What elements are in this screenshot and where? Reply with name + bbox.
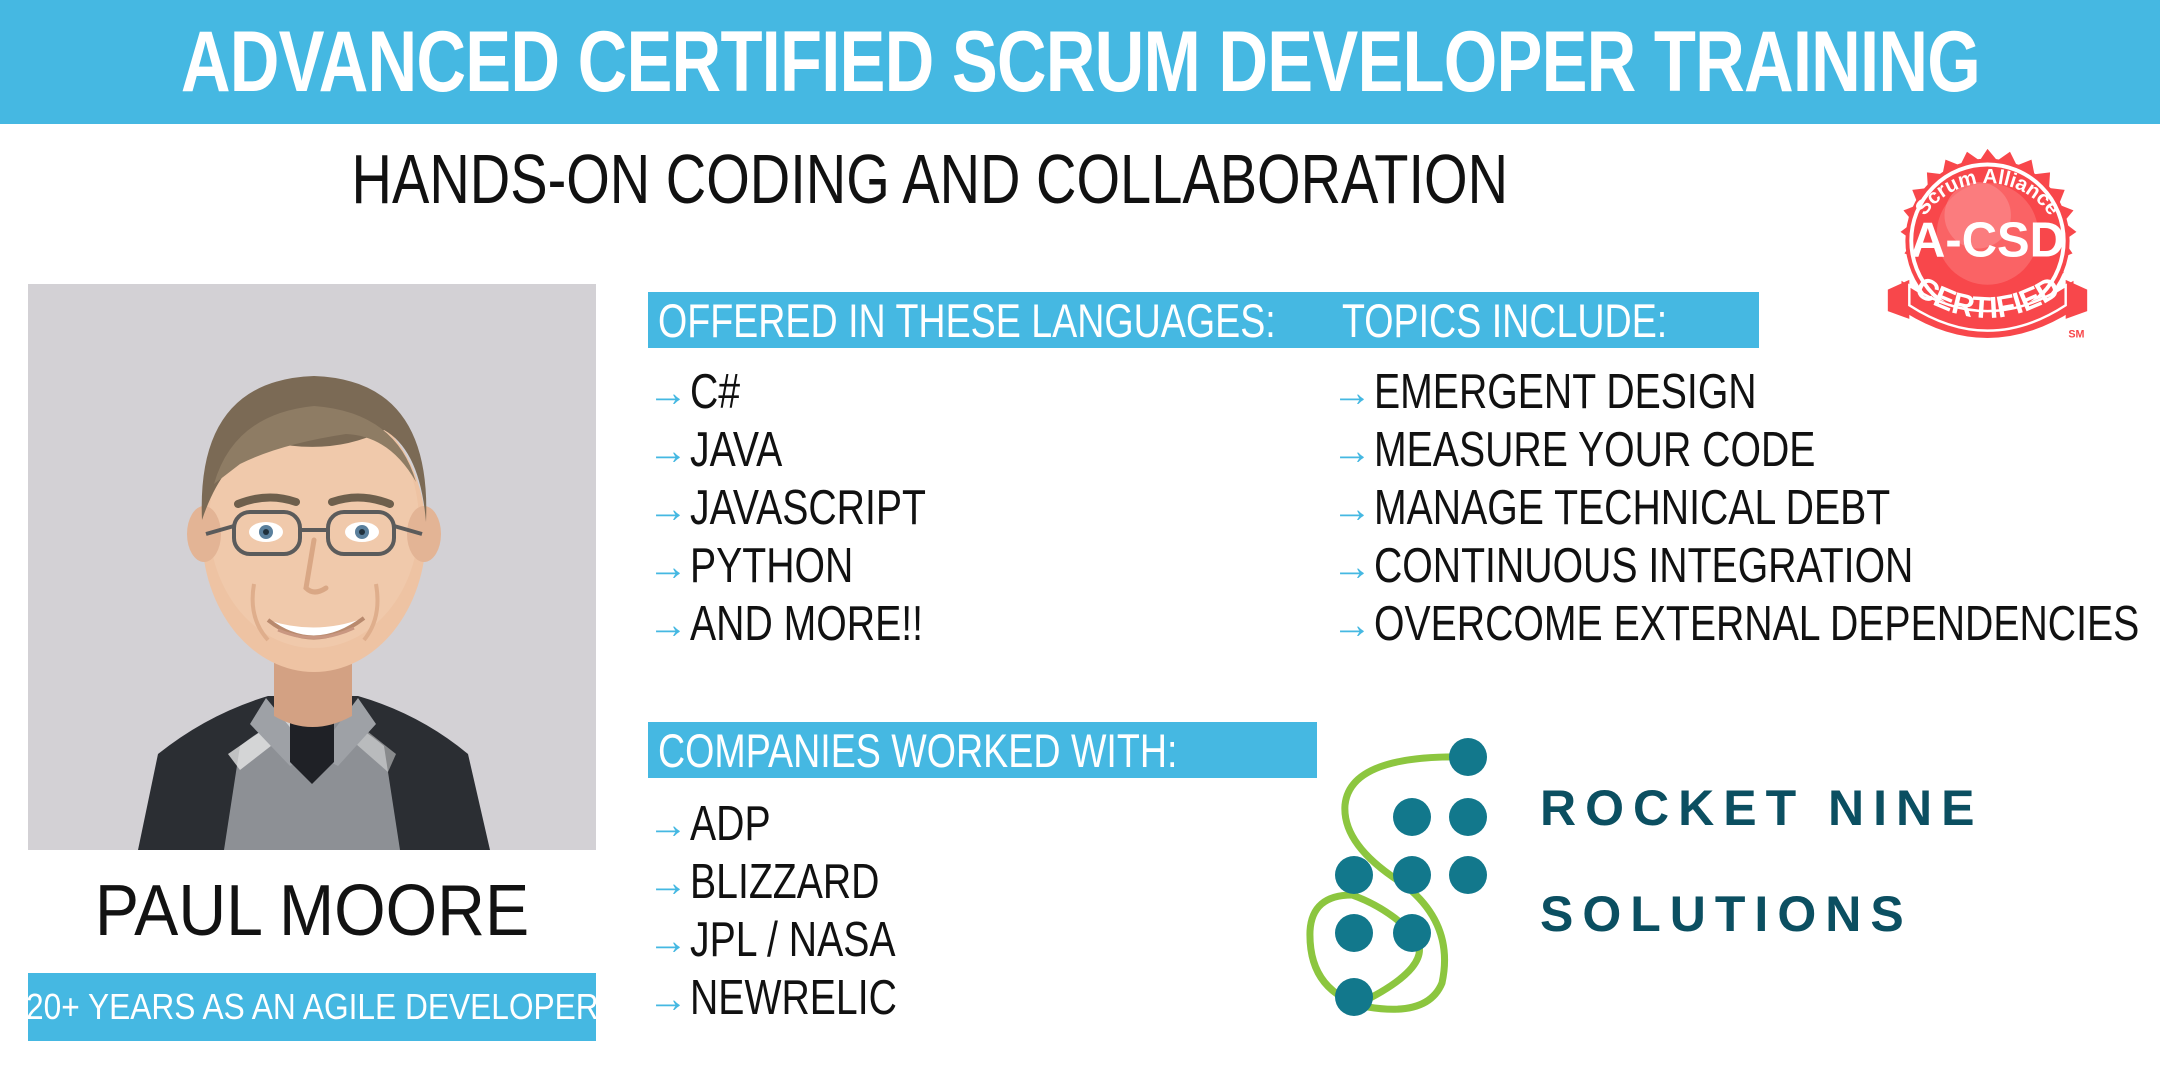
list-item: → NEWRELIC bbox=[648, 974, 949, 1032]
list-item: → ADP bbox=[648, 800, 949, 858]
list-item: → PYTHON bbox=[648, 542, 985, 600]
list-item: → JPL / NASA bbox=[648, 916, 949, 974]
list-item-label: JAVA bbox=[690, 426, 782, 475]
arrow-right-icon: → bbox=[1332, 605, 1374, 645]
arrow-right-icon: → bbox=[1332, 489, 1374, 529]
list-item-label: ADP bbox=[690, 800, 771, 849]
arrow-right-icon: → bbox=[648, 921, 690, 961]
arrow-right-icon: → bbox=[648, 431, 690, 471]
list-item: → MEASURE YOUR CODE bbox=[1332, 426, 2160, 484]
section-heading-topics-text: TOPICS INCLUDE: bbox=[1342, 297, 1667, 344]
list-item-label: NEWRELIC bbox=[690, 974, 897, 1023]
rocket-nine-solutions-logo: ROCKET NINE SOLUTIONS bbox=[1290, 735, 2010, 1035]
logo-line-2: SOLUTIONS bbox=[1540, 889, 1983, 939]
page-title: ADVANCED CERTIFIED SCRUM DEVELOPER TRAIN… bbox=[180, 19, 1979, 105]
list-item: → JAVA bbox=[648, 426, 985, 484]
arrow-right-icon: → bbox=[648, 979, 690, 1019]
list-item-label: JPL / NASA bbox=[690, 916, 896, 965]
logo-line-1: ROCKET NINE bbox=[1540, 783, 1983, 833]
section-heading-topics: TOPICS INCLUDE: bbox=[1332, 292, 1759, 348]
arrow-right-icon: → bbox=[1332, 373, 1374, 413]
arrow-right-icon: → bbox=[648, 605, 690, 645]
arrow-right-icon: → bbox=[648, 863, 690, 903]
presenter-name-text: PAUL MOORE bbox=[95, 875, 529, 947]
list-item-label: AND MORE!! bbox=[690, 600, 923, 649]
presenter-photo bbox=[28, 284, 596, 850]
list-item: → BLIZZARD bbox=[648, 858, 949, 916]
list-item-label: CONTINUOUS INTEGRATION bbox=[1374, 542, 1913, 591]
companies-list: → ADP → BLIZZARD → JPL / NASA → NEWRELIC bbox=[648, 800, 949, 1032]
header-banner: ADVANCED CERTIFIED SCRUM DEVELOPER TRAIN… bbox=[0, 0, 2160, 124]
subtitle-text: HANDS-ON CODING AND COLLABORATION bbox=[352, 144, 1508, 214]
list-item: → JAVASCRIPT bbox=[648, 484, 985, 542]
arrow-right-icon: → bbox=[648, 489, 690, 529]
arrow-right-icon: → bbox=[1332, 431, 1374, 471]
list-item-label: MANAGE TECHNICAL DEBT bbox=[1374, 484, 1890, 533]
list-item: → C# bbox=[648, 368, 985, 426]
section-heading-companies: COMPANIES WORKED WITH: bbox=[648, 722, 1317, 778]
rocket-nine-mark-icon bbox=[1290, 735, 1540, 1035]
poster-root: ADVANCED CERTIFIED SCRUM DEVELOPER TRAIN… bbox=[0, 0, 2160, 1080]
presenter-tagline-text: 20+ YEARS AS AN AGILE DEVELOPER bbox=[26, 989, 599, 1025]
list-item-label: C# bbox=[690, 368, 740, 417]
list-item: → EMERGENT DESIGN bbox=[1332, 368, 2160, 426]
arrow-right-icon: → bbox=[648, 373, 690, 413]
list-item-label: OVERCOME EXTERNAL DEPENDENCIES bbox=[1374, 600, 2139, 649]
list-item: → CONTINUOUS INTEGRATION bbox=[1332, 542, 2160, 600]
section-heading-languages-text: OFFERED IN THESE LANGUAGES: bbox=[658, 297, 1276, 344]
logo-wordmark: ROCKET NINE SOLUTIONS bbox=[1540, 783, 1983, 939]
section-heading-companies-text: COMPANIES WORKED WITH: bbox=[658, 727, 1177, 774]
headshot-illustration bbox=[28, 284, 596, 850]
list-item: → AND MORE!! bbox=[648, 600, 985, 658]
languages-list: → C# → JAVA → JAVASCRIPT → PYTHON → AND … bbox=[648, 368, 985, 658]
list-item: → MANAGE TECHNICAL DEBT bbox=[1332, 484, 2160, 542]
subtitle: HANDS-ON CODING AND COLLABORATION bbox=[0, 144, 1860, 214]
arrow-right-icon: → bbox=[648, 805, 690, 845]
arrow-right-icon: → bbox=[648, 547, 690, 587]
list-item-label: MEASURE YOUR CODE bbox=[1374, 426, 1815, 475]
arrow-right-icon: → bbox=[1332, 547, 1374, 587]
scrum-alliance-badge: Scrum Alliance A-CSD CERTIFIED SM bbox=[1880, 143, 2095, 358]
topics-list: → EMERGENT DESIGN → MEASURE YOUR CODE → … bbox=[1332, 368, 2160, 658]
list-item-label: PYTHON bbox=[690, 542, 853, 591]
list-item-label: BLIZZARD bbox=[690, 858, 880, 907]
presenter-name: PAUL MOORE bbox=[28, 875, 596, 947]
list-item: → OVERCOME EXTERNAL DEPENDENCIES bbox=[1332, 600, 2160, 658]
list-item-label: JAVASCRIPT bbox=[690, 484, 926, 533]
badge-center-text: A-CSD bbox=[1910, 213, 2065, 267]
list-item-label: EMERGENT DESIGN bbox=[1374, 368, 1757, 417]
certified-seal-icon: Scrum Alliance A-CSD CERTIFIED SM bbox=[1880, 143, 2095, 358]
section-heading-languages: OFFERED IN THESE LANGUAGES: bbox=[648, 292, 1440, 348]
presenter-tagline-badge: 20+ YEARS AS AN AGILE DEVELOPER bbox=[28, 973, 596, 1041]
badge-service-mark: SM bbox=[2068, 328, 2084, 340]
